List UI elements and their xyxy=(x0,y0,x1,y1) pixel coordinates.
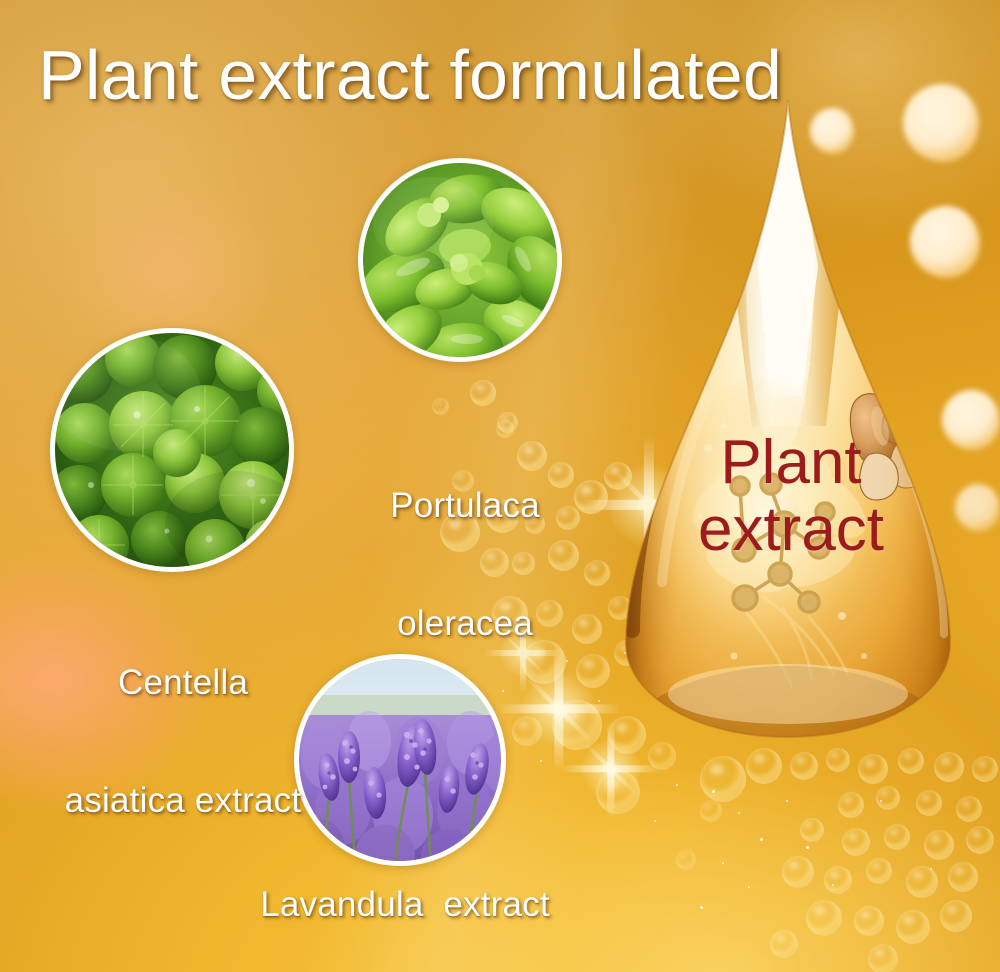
portulaca-label: Portulaca oleracea xyxy=(355,408,575,722)
product-poster: Plant extract xyxy=(0,0,1000,972)
droplet-headline: Plant extract xyxy=(646,430,936,564)
centella-label-line1: Centella xyxy=(8,663,358,702)
centella-photo xyxy=(55,333,289,567)
portulaca-label-line2: oleracea xyxy=(355,604,575,643)
centella-label: Centella asiatica extract xyxy=(8,585,358,899)
oil-droplet xyxy=(612,96,964,741)
portulaca-photo xyxy=(363,163,557,357)
centella-label-line2: asiatica extract xyxy=(8,781,358,820)
droplet-headline-line2: extract xyxy=(646,497,936,564)
sparkle-star-icon xyxy=(580,738,642,800)
droplet-headline-line1: Plant xyxy=(720,428,861,497)
portulaca-circle[interactable] xyxy=(358,158,562,362)
centella-circle[interactable] xyxy=(50,328,294,572)
page-title: Plant extract formulated xyxy=(38,36,782,114)
portulaca-label-line1: Portulaca xyxy=(355,486,575,525)
lavandula-label: Lavandula extract xyxy=(180,885,630,924)
